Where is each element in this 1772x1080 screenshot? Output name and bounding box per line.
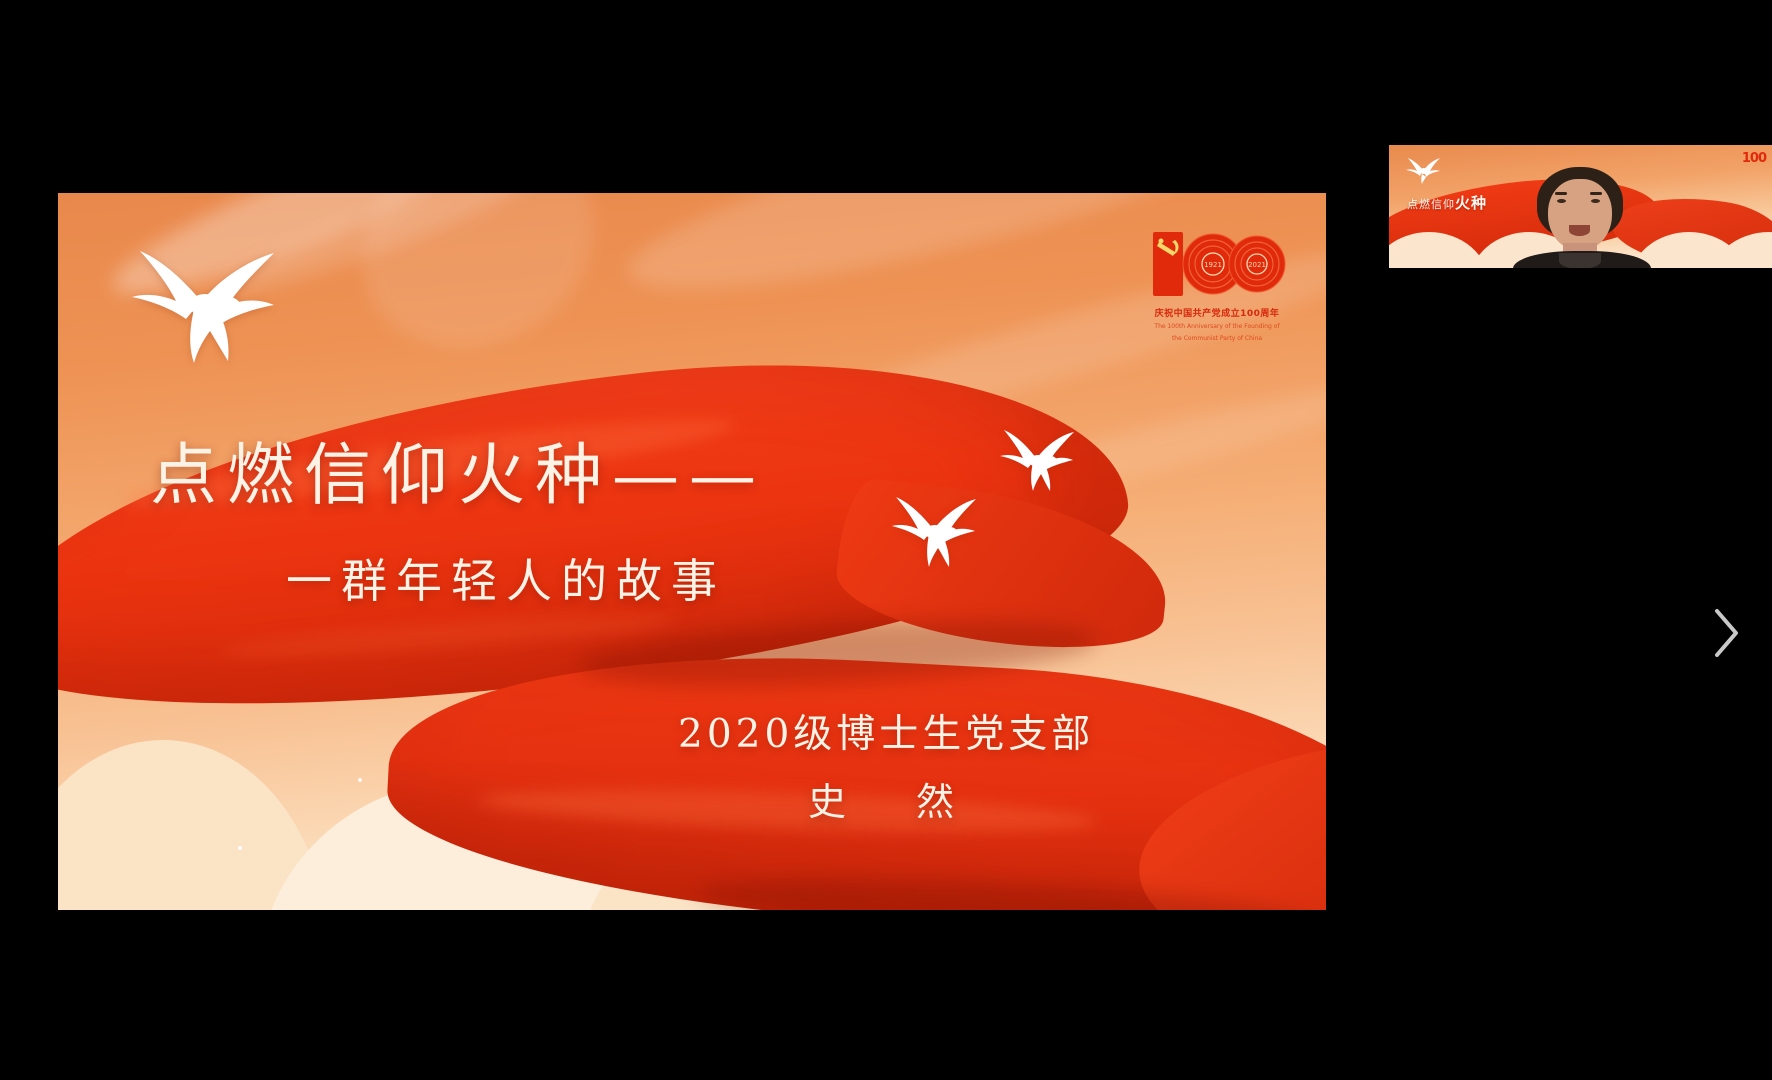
eye (1591, 199, 1600, 203)
mouth (1569, 225, 1590, 236)
video-background-caption: 点燃信仰火种 (1407, 192, 1487, 213)
presentation-viewer: 1921 2021 庆祝中国共产党成立100周年 The 100th Anniv… (0, 0, 1772, 1080)
slide-canvas[interactable]: 1921 2021 庆祝中国共产党成立100周年 The 100th Anniv… (58, 193, 1326, 910)
collar (1559, 253, 1601, 268)
chevron-right-icon (1709, 605, 1743, 661)
face (1548, 179, 1612, 251)
next-slide-button[interactable] (1700, 598, 1752, 668)
slide-subtitle: 一群年轻人的故事 (286, 545, 726, 611)
video-bg-text-small: 点燃信仰 (1407, 198, 1455, 211)
slide-presenter-name: 史 然 (808, 771, 970, 826)
eyebrow (1590, 192, 1602, 195)
slide-text-block: 点燃信仰火种—— 一群年轻人的故事 2020级博士生党支部 史 然 (58, 193, 1326, 910)
slide-title: 点燃信仰火种—— (150, 421, 766, 518)
eyebrow (1555, 192, 1567, 195)
slide-organization: 2020级博士生党支部 (678, 703, 1094, 759)
dove-icon (1403, 155, 1443, 189)
video-bg-text-large: 火种 (1455, 194, 1487, 212)
video-bg-emblem: 100 (1742, 151, 1766, 166)
eye (1557, 199, 1566, 203)
speaker-video-thumbnail[interactable]: 点燃信仰火种 100 (1389, 145, 1772, 268)
speaker-portrait (1507, 167, 1657, 268)
